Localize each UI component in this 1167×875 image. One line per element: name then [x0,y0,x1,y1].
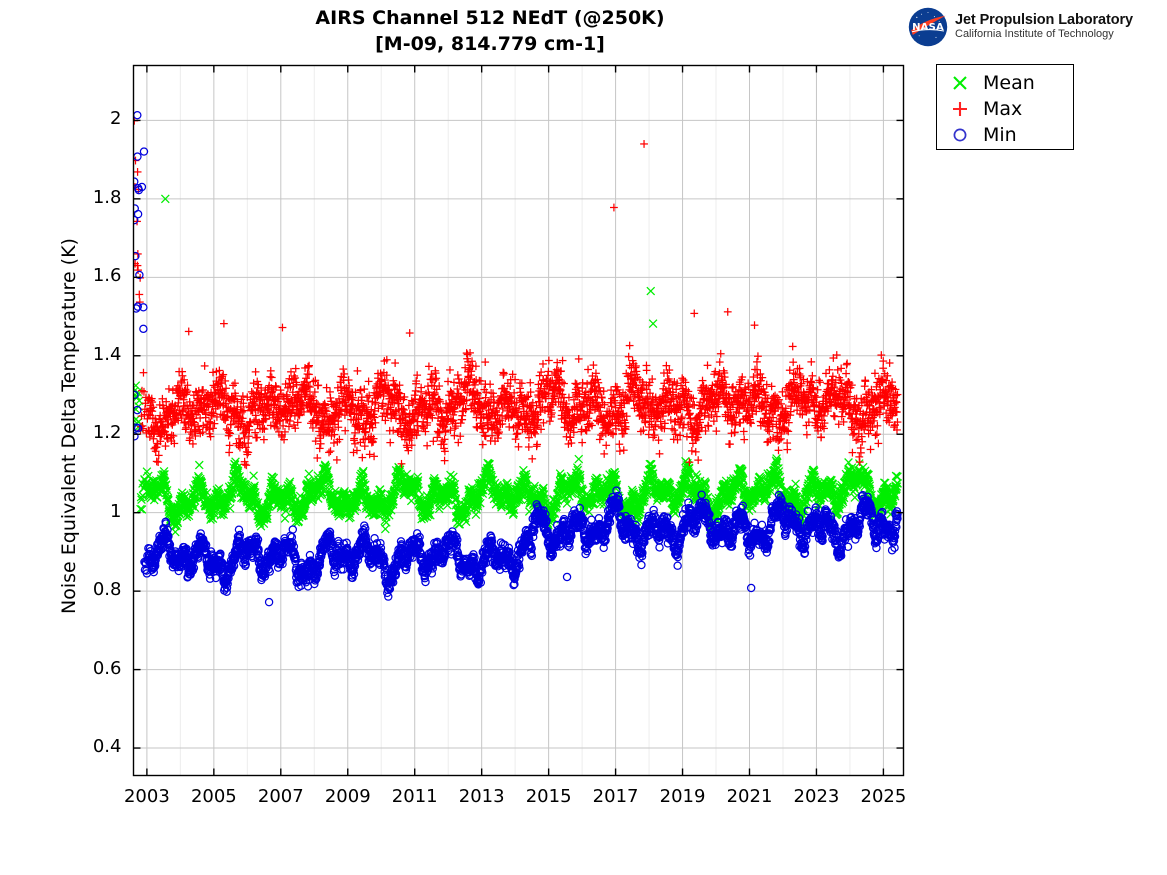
y-axis-tick-label: 1.4 [62,344,122,365]
x-axis-tick-label: 2025 [843,786,923,807]
y-axis-tick-label: 1.2 [62,422,122,443]
y-axis-tick-label: 1 [62,501,122,522]
figure-canvas: AIRS Channel 512 NEdT (@250K) [M-09, 814… [0,0,1167,875]
y-axis-tick-label: 1.6 [62,265,122,286]
y-axis-tick-label: 2 [62,108,122,129]
y-axis-tick-label: 0.6 [62,658,122,679]
plot-area [0,0,1167,875]
y-axis-tick-label: 0.4 [62,736,122,757]
y-axis-tick-label: 0.8 [62,579,122,600]
y-axis-tick-label: 1.8 [62,187,122,208]
